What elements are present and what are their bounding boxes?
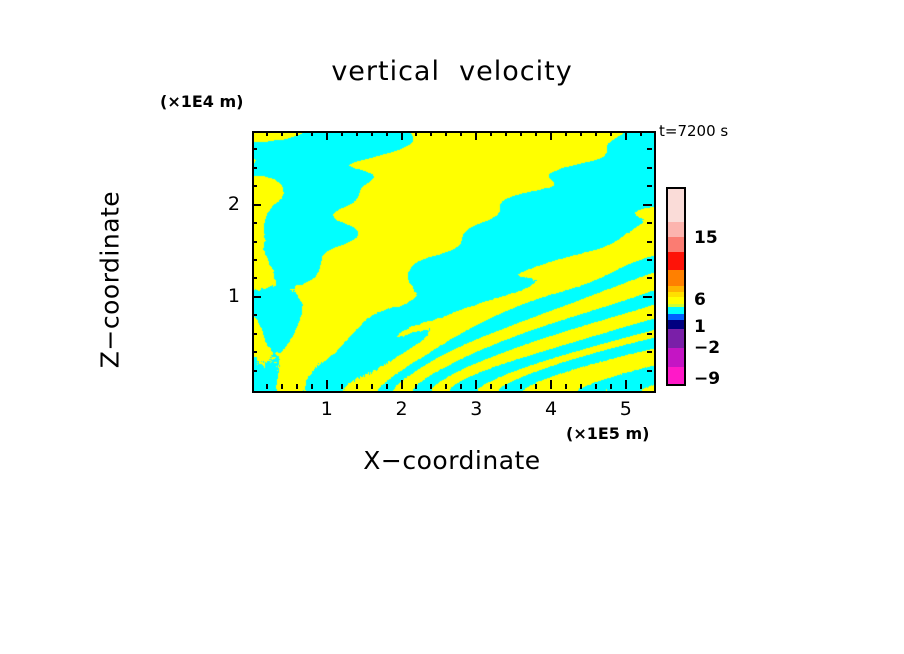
- x-tick-major: [326, 131, 328, 140]
- x-tick-minor: [505, 384, 507, 389]
- y-tick-minor: [647, 351, 652, 353]
- x-tick-minor: [565, 384, 567, 389]
- colorbar-band: [668, 222, 684, 237]
- time-annotation: t=7200 s: [659, 122, 728, 140]
- x-tick-major: [550, 380, 552, 389]
- x-tick-minor: [445, 384, 447, 389]
- figure-canvas: vertical velocity (×1E4 m) (×1E5 m) t=72…: [0, 0, 904, 654]
- x-tick-minor: [535, 131, 537, 136]
- x-tick-minor: [535, 384, 537, 389]
- x-tick-minor: [595, 131, 597, 136]
- y-tick-minor: [647, 277, 652, 279]
- x-tick-minor: [460, 384, 462, 389]
- y-tick-minor: [252, 241, 257, 243]
- x-tick-major: [475, 380, 477, 389]
- x-tick-major: [550, 131, 552, 140]
- x-tick-minor: [266, 131, 268, 136]
- y-tick-minor: [647, 185, 652, 187]
- colorbar-band: [668, 348, 684, 366]
- y-tick-minor: [252, 259, 257, 261]
- colorbar-band: [668, 329, 684, 349]
- x-tick-major: [475, 131, 477, 140]
- x-axis-unit-label: (×1E5 m): [566, 424, 649, 443]
- y-tick-major: [252, 296, 261, 298]
- x-tick-minor: [281, 384, 283, 389]
- x-tick-minor: [311, 384, 313, 389]
- x-tick-label: 2: [382, 398, 422, 420]
- y-tick-minor: [252, 370, 257, 372]
- x-tick-label: 5: [606, 398, 646, 420]
- colorbar-band: [668, 237, 684, 252]
- x-tick-minor: [311, 131, 313, 136]
- y-tick-major: [252, 204, 261, 206]
- x-tick-minor: [580, 131, 582, 136]
- x-tick-minor: [595, 384, 597, 389]
- x-tick-minor: [415, 384, 417, 389]
- y-tick-minor: [252, 333, 257, 335]
- x-tick-minor: [296, 131, 298, 136]
- y-tick-major: [643, 204, 652, 206]
- y-tick-minor: [647, 370, 652, 372]
- x-tick-minor: [445, 131, 447, 136]
- y-tick-minor: [647, 167, 652, 169]
- y-tick-minor: [647, 148, 652, 150]
- y-tick-label: 1: [200, 285, 240, 307]
- colorbar-tick-label: 1: [694, 317, 706, 337]
- y-tick-minor: [252, 222, 257, 224]
- colorbar-band: [668, 189, 684, 222]
- x-tick-minor: [520, 384, 522, 389]
- y-tick-minor: [647, 314, 652, 316]
- y-tick-minor: [252, 277, 257, 279]
- x-tick-minor: [490, 384, 492, 389]
- y-tick-minor: [252, 185, 257, 187]
- x-tick-major: [401, 380, 403, 389]
- x-tick-minor: [356, 131, 358, 136]
- x-tick-major: [326, 380, 328, 389]
- x-axis-title: X−coordinate: [0, 446, 904, 475]
- x-tick-minor: [505, 131, 507, 136]
- x-tick-major: [625, 131, 627, 140]
- heatmap-plot-area: [252, 131, 656, 393]
- chart-title: vertical velocity: [0, 56, 904, 87]
- x-tick-minor: [415, 131, 417, 136]
- x-tick-minor: [341, 131, 343, 136]
- x-tick-major: [401, 131, 403, 140]
- x-tick-minor: [386, 384, 388, 389]
- x-tick-minor: [520, 131, 522, 136]
- x-tick-minor: [460, 131, 462, 136]
- x-tick-major: [625, 380, 627, 389]
- x-tick-minor: [430, 384, 432, 389]
- x-tick-minor: [371, 384, 373, 389]
- x-tick-minor: [386, 131, 388, 136]
- x-tick-label: 4: [531, 398, 571, 420]
- y-tick-minor: [252, 148, 257, 150]
- x-tick-minor: [430, 131, 432, 136]
- x-tick-minor: [580, 384, 582, 389]
- colorbar-tick-label: 6: [694, 290, 706, 310]
- x-tick-minor: [296, 384, 298, 389]
- colorbar-tick-label: 15: [694, 228, 718, 248]
- x-tick-label: 3: [456, 398, 496, 420]
- y-axis-unit-label: (×1E4 m): [160, 92, 243, 111]
- y-tick-minor: [252, 167, 257, 169]
- y-tick-label: 2: [200, 193, 240, 215]
- x-tick-minor: [371, 131, 373, 136]
- colorbar-tick-label: −2: [694, 338, 720, 358]
- y-tick-minor: [252, 351, 257, 353]
- x-tick-minor: [640, 384, 642, 389]
- vertical-velocity-field: [254, 133, 654, 391]
- y-tick-major: [643, 296, 652, 298]
- x-tick-label: 1: [307, 398, 347, 420]
- y-tick-minor: [647, 259, 652, 261]
- x-tick-minor: [610, 131, 612, 136]
- colorbar-tick-label: −9: [694, 369, 720, 389]
- x-tick-minor: [266, 384, 268, 389]
- y-tick-minor: [647, 333, 652, 335]
- x-tick-minor: [341, 384, 343, 389]
- x-tick-minor: [490, 131, 492, 136]
- colorbar-band: [668, 270, 684, 286]
- x-tick-minor: [610, 384, 612, 389]
- colorbar-band: [668, 320, 684, 329]
- y-tick-minor: [252, 314, 257, 316]
- x-tick-minor: [565, 131, 567, 136]
- x-tick-minor: [640, 131, 642, 136]
- y-axis-title: Z−coordinate: [96, 130, 125, 430]
- y-tick-minor: [647, 222, 652, 224]
- colorbar: [666, 187, 686, 386]
- colorbar-band: [668, 252, 684, 270]
- y-tick-minor: [647, 241, 652, 243]
- x-tick-minor: [281, 131, 283, 136]
- colorbar-band: [668, 367, 684, 384]
- x-tick-minor: [356, 384, 358, 389]
